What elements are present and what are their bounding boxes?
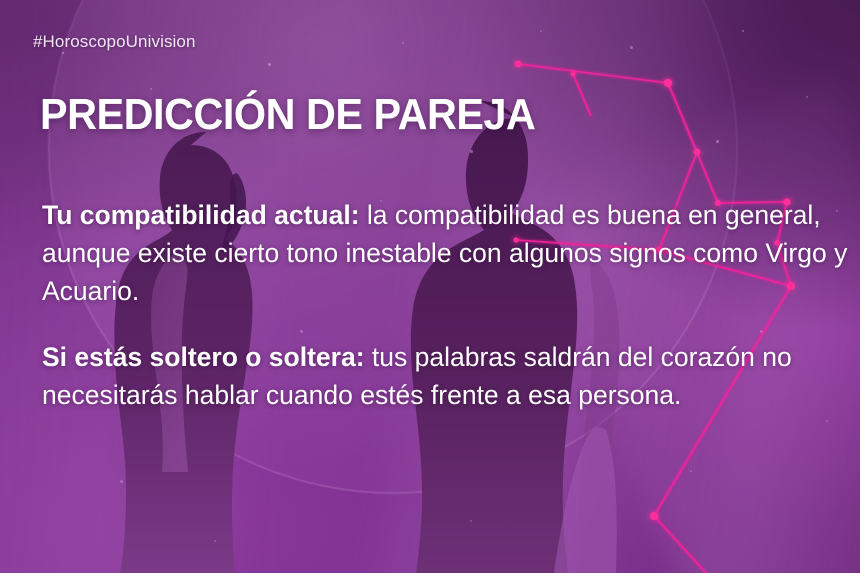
hashtag-label: #HoroscopoUnivision bbox=[33, 32, 196, 52]
paragraph-compatibility: Tu compatibilidad actual: la compatibili… bbox=[42, 196, 848, 310]
page-title: PREDICCIÓN DE PAREJA bbox=[40, 90, 535, 140]
paragraph-single-lead: Si estás soltero o soltera: bbox=[42, 342, 365, 372]
paragraph-compatibility-lead: Tu compatibilidad actual: bbox=[42, 200, 360, 230]
text-content: #HoroscopoUnivision PREDICCIÓN DE PAREJA… bbox=[0, 0, 860, 573]
horoscope-card: #HoroscopoUnivision PREDICCIÓN DE PAREJA… bbox=[0, 0, 860, 573]
paragraph-single: Si estás soltero o soltera: tus palabras… bbox=[42, 338, 848, 414]
paragraph-spacer bbox=[42, 310, 848, 338]
prediction-body: Tu compatibilidad actual: la compatibili… bbox=[42, 196, 848, 414]
